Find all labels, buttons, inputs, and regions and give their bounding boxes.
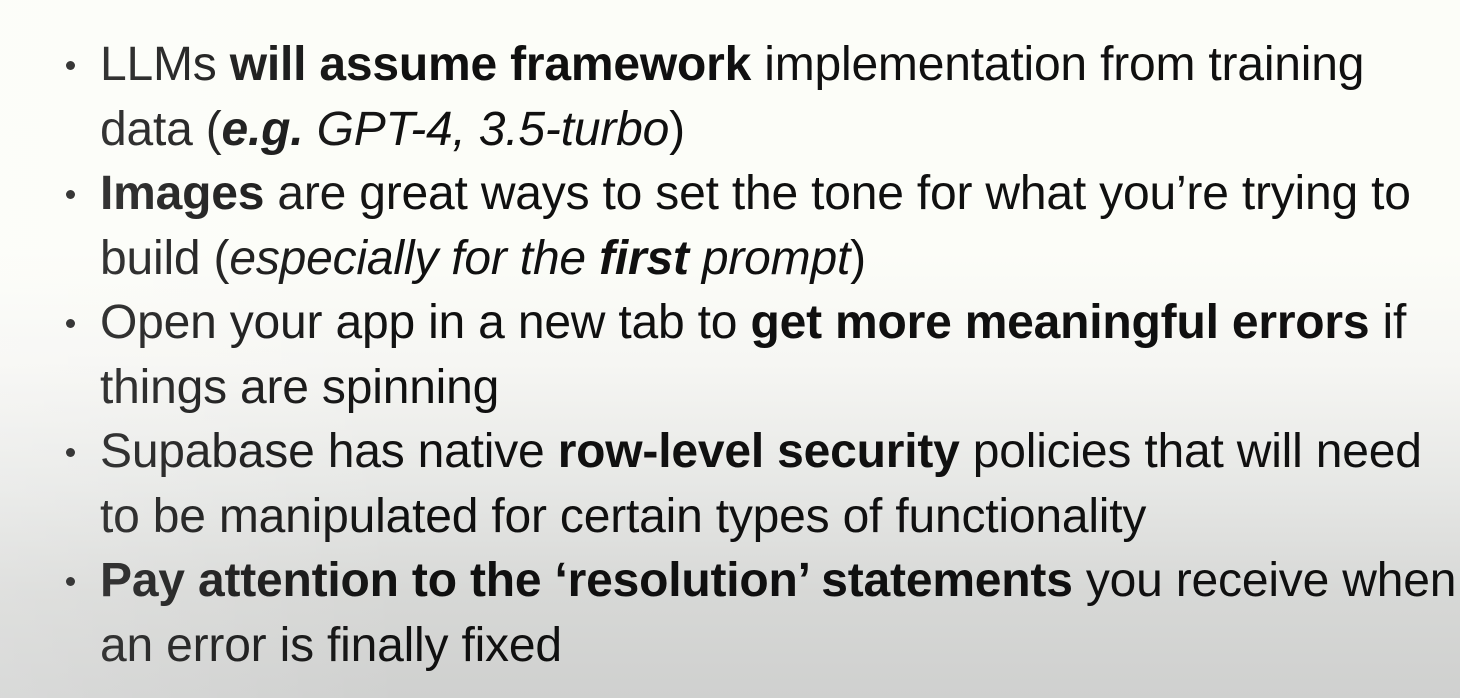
list-item: Supabase has native row-level security p… [0, 420, 1460, 549]
bullet-text-llms-assume-framework: LLMs will assume framework implementatio… [100, 33, 1460, 162]
bullet-dot-icon [66, 61, 75, 70]
bullet-text-open-app-new-tab: Open your app in a new tab to get more m… [100, 291, 1460, 420]
bullet-dot-icon [66, 190, 75, 199]
bullet-text-images-set-tone: Images are great ways to set the tone fo… [100, 162, 1460, 291]
bullet-dot-icon [66, 577, 75, 586]
list-item: Images are great ways to set the tone fo… [0, 162, 1460, 291]
bullet-text-resolution-statements: Pay attention to the ‘resolution’ statem… [100, 549, 1460, 678]
bullet-text-supabase-rls: Supabase has native row-level security p… [100, 420, 1460, 549]
bullet-dot-icon [66, 319, 75, 328]
bullet-list: LLMs will assume framework implementatio… [0, 33, 1460, 678]
list-item: Open your app in a new tab to get more m… [0, 291, 1460, 420]
list-item: Pay attention to the ‘resolution’ statem… [0, 549, 1460, 678]
list-item: LLMs will assume framework implementatio… [0, 33, 1460, 162]
slide-canvas: LLMs will assume framework implementatio… [0, 0, 1460, 698]
bullet-dot-icon [66, 448, 75, 457]
